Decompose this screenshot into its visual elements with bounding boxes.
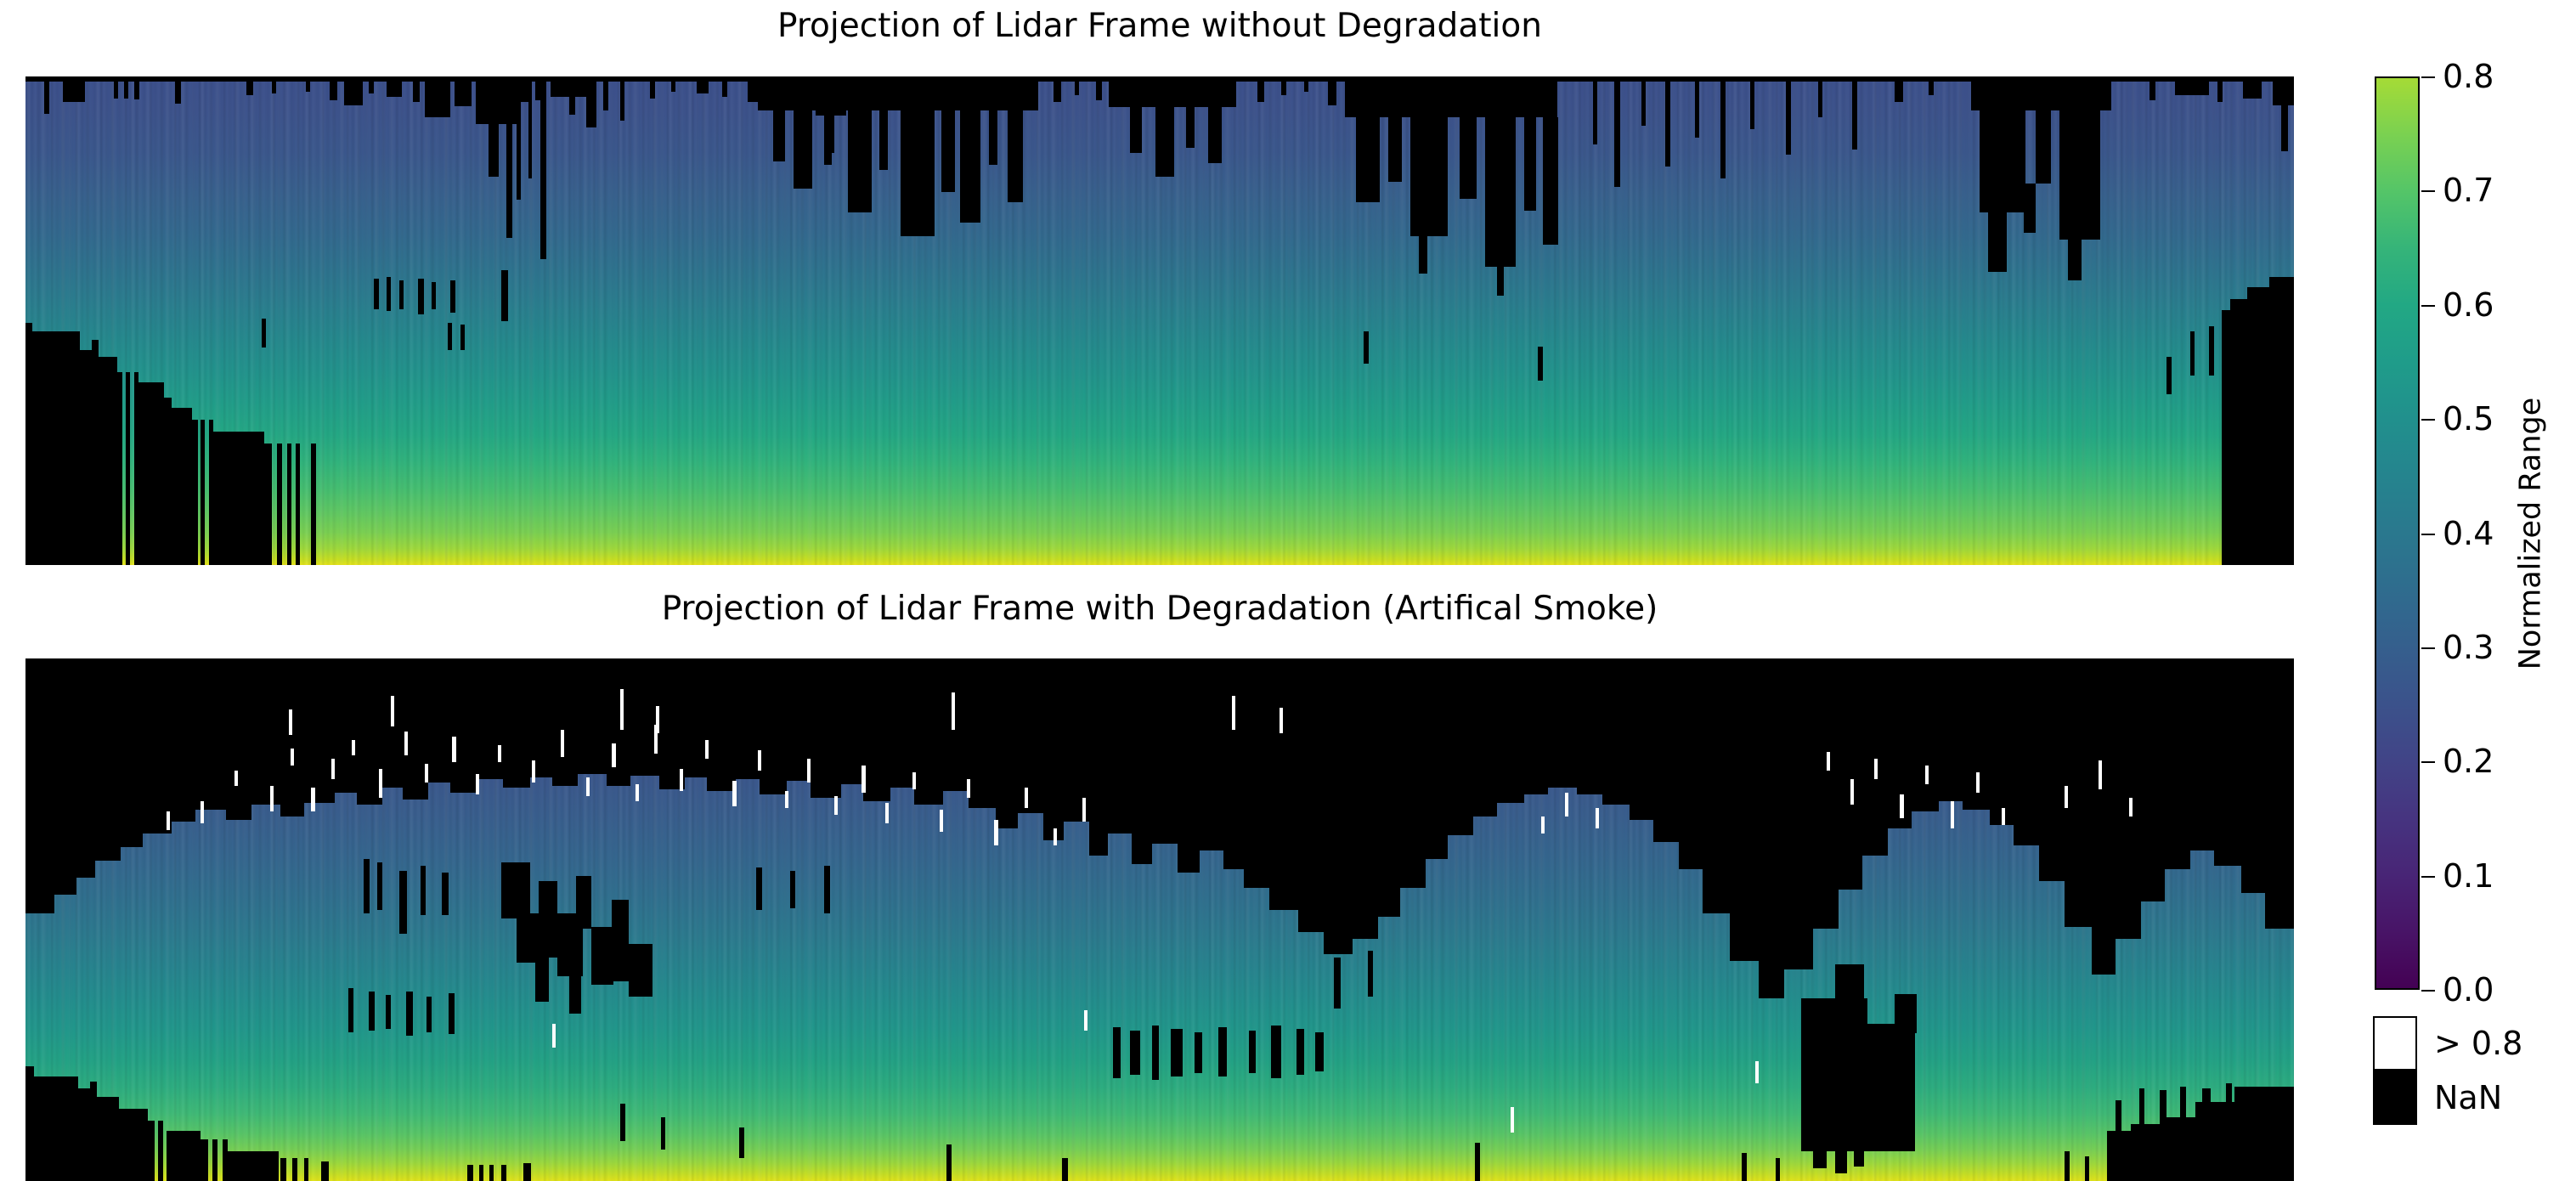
colorbar-label-0.7: 0.7 [2443, 174, 2494, 206]
colorbar-label-0.0: 0.0 [2443, 974, 2494, 1006]
lidar-projection-panel-without-degradation [25, 76, 2294, 565]
colorbar: 0.8 0.7 0.6 0.5 0.4 0.3 0.2 0.1 0.0 [2375, 76, 2420, 990]
colorbar-tick-0.7 [2421, 190, 2435, 192]
colorbar-label-0.2: 0.2 [2443, 745, 2494, 777]
colorbar-gradient [2375, 76, 2420, 990]
colorbar-tick-0.6 [2421, 305, 2435, 307]
legend-swatch-over-range [2373, 1016, 2417, 1071]
colorbar-label-0.4: 0.4 [2443, 517, 2494, 550]
colorbar-label-0.6: 0.6 [2443, 289, 2494, 321]
colorbar-tick-0.3 [2421, 647, 2435, 649]
colorbar-tick-0.4 [2421, 534, 2435, 535]
legend-label-nan: NaN [2434, 1079, 2502, 1116]
colorbar-tick-0.1 [2421, 876, 2435, 878]
legend-entry-nan: NaN [2373, 1071, 2502, 1125]
lidar-projection-panel-with-degradation [25, 658, 2294, 1181]
colorbar-label-0.5: 0.5 [2443, 403, 2494, 435]
colorbar-label-0.8: 0.8 [2443, 60, 2494, 93]
colorbar-tick-0.8 [2421, 76, 2435, 78]
legend-entry-over-range: > 0.8 [2373, 1016, 2522, 1071]
colorbar-label-0.1: 0.1 [2443, 860, 2494, 892]
figure-canvas: Projection of Lidar Frame without Degrad… [0, 0, 2576, 1181]
colorbar-axis-label-text: Normalized Range [2513, 397, 2547, 670]
legend-swatch-nan [2373, 1071, 2417, 1125]
legend-label-over-range: > 0.8 [2434, 1025, 2522, 1062]
colorbar-tick-0.0 [2421, 990, 2435, 992]
colorbar-label-0.3: 0.3 [2443, 631, 2494, 664]
panel-1-title: Projection of Lidar Frame without Degrad… [25, 7, 2294, 45]
colorbar-tick-0.2 [2421, 761, 2435, 763]
colorbar-tick-0.5 [2421, 419, 2435, 421]
panel-2-title: Projection of Lidar Frame with Degradati… [25, 590, 2294, 628]
colorbar-axis-label: Normalized Range [2505, 76, 2556, 990]
